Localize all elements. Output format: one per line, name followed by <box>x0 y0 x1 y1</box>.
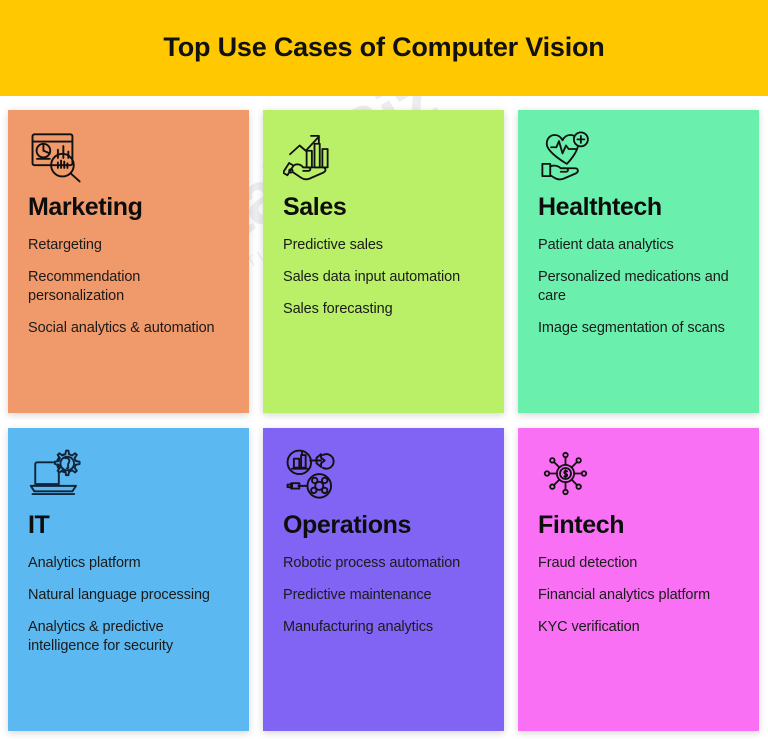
page-title: Top Use Cases of Computer Vision <box>163 33 604 63</box>
card-items-fintech: Fraud detection Financial analytics plat… <box>538 554 739 637</box>
card-items-sales: Predictive sales Sales data input automa… <box>283 236 484 319</box>
gears-tools-icon <box>283 446 484 508</box>
list-item: Fraud detection <box>538 554 739 573</box>
card-items-operations: Robotic process automation Predictive ma… <box>283 554 484 637</box>
card-operations[interactable]: Operations Robotic process automation Pr… <box>263 428 504 731</box>
list-item: Analytics platform <box>28 554 229 573</box>
list-item: Predictive sales <box>283 236 484 255</box>
list-item: Financial analytics platform <box>538 586 739 605</box>
list-item: KYC verification <box>538 618 739 637</box>
list-item: Analytics & predictive intelligence for … <box>28 618 229 656</box>
list-item: Personalized medications and care <box>538 268 739 306</box>
card-items-it: Analytics platform Natural language proc… <box>28 554 229 657</box>
list-item: Sales forecasting <box>283 300 484 319</box>
sales-growth-hand-icon <box>283 128 484 190</box>
list-item: Image segmentation of scans <box>538 319 739 338</box>
card-sales[interactable]: Sales Predictive sales Sales data input … <box>263 110 504 413</box>
card-fintech[interactable]: Fintech Fraud detection Financial analyt… <box>518 428 759 731</box>
card-title-operations: Operations <box>283 512 484 540</box>
list-item: Natural language processing <box>28 586 229 605</box>
card-title-marketing: Marketing <box>28 194 229 222</box>
card-title-sales: Sales <box>283 194 484 222</box>
list-item: Manufacturing analytics <box>283 618 484 637</box>
infographic-page: Top Use Cases of Computer Vision DataToB… <box>0 0 768 739</box>
list-item: Patient data analytics <box>538 236 739 255</box>
dollar-network-icon <box>538 446 739 508</box>
list-item: Retargeting <box>28 236 229 255</box>
laptop-gear-icon <box>28 446 229 508</box>
list-item: Social analytics & automation <box>28 319 229 338</box>
list-item: Robotic process automation <box>283 554 484 573</box>
header-band: Top Use Cases of Computer Vision <box>0 0 768 96</box>
heart-care-hand-icon <box>538 128 739 190</box>
card-items-healthtech: Patient data analytics Personalized medi… <box>538 236 739 339</box>
marketing-analytics-icon <box>28 128 229 190</box>
list-item: Recommendation personalization <box>28 268 229 306</box>
card-title-it: IT <box>28 512 229 540</box>
card-healthtech[interactable]: Healthtech Patient data analytics Person… <box>518 110 759 413</box>
list-item: Predictive maintenance <box>283 586 484 605</box>
card-title-healthtech: Healthtech <box>538 194 739 222</box>
card-it[interactable]: IT Analytics platform Natural language p… <box>8 428 249 731</box>
list-item: Sales data input automation <box>283 268 484 287</box>
card-title-fintech: Fintech <box>538 512 739 540</box>
card-marketing[interactable]: Marketing Retargeting Recommendation per… <box>8 110 249 413</box>
use-case-grid: Marketing Retargeting Recommendation per… <box>8 110 760 731</box>
card-items-marketing: Retargeting Recommendation personalizati… <box>28 236 229 339</box>
